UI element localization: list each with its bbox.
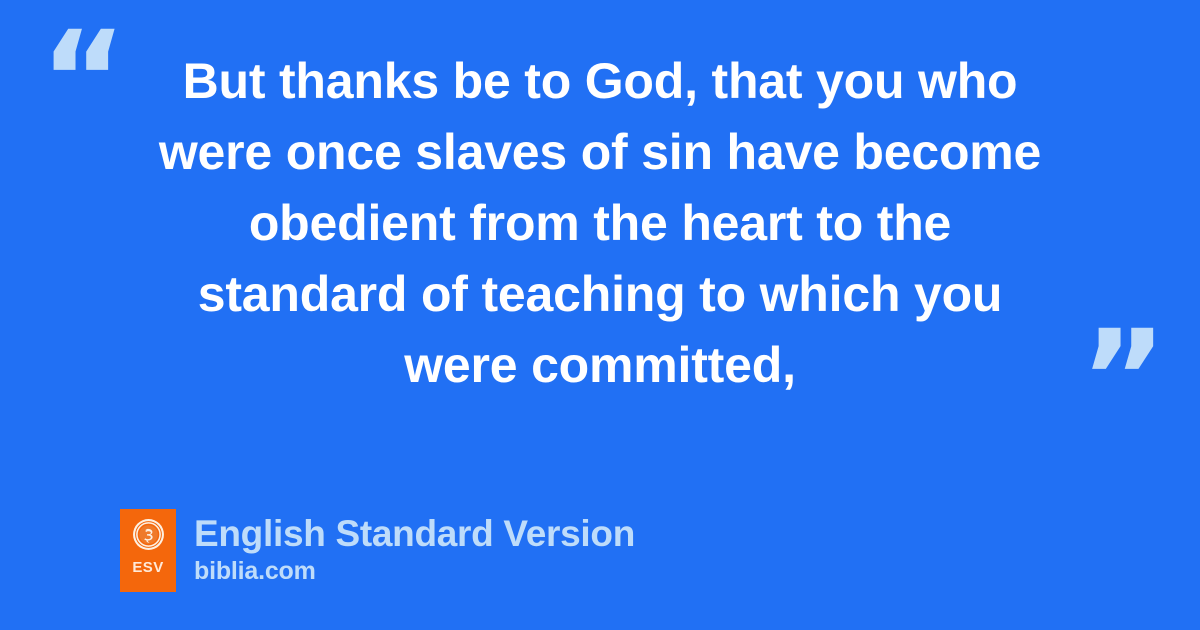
esv-logo-label: ESV [132,560,163,575]
closing-quote-icon: ” [1080,313,1167,445]
attribution-text: English Standard Version biblia.com [194,509,635,585]
esv-logo: ESV [120,509,176,592]
verse-text: But thanks be to God, that you who were … [60,46,1140,401]
bible-version-name: English Standard Version [194,513,635,555]
verse-image-card: “ But thanks be to God, that you who wer… [0,0,1200,630]
site-name[interactable]: biblia.com [194,557,635,585]
attribution: ESV English Standard Version biblia.com [120,509,635,592]
quote-block: But thanks be to God, that you who were … [60,46,1140,401]
esv-seal-icon [132,518,165,551]
